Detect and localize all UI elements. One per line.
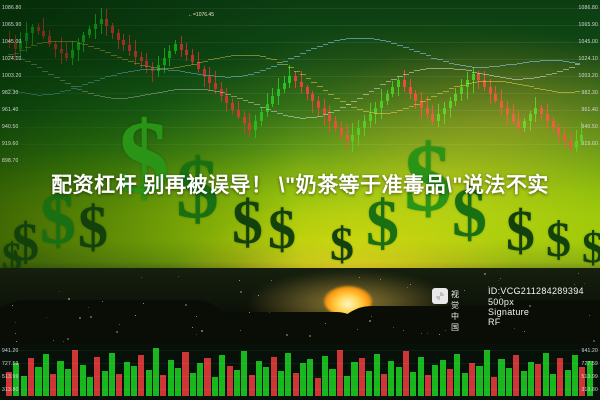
axis-tick-left: 1086.80	[2, 5, 21, 11]
watermark-logo-icon	[432, 288, 448, 304]
axis-tick-left: 1045.00	[2, 39, 21, 45]
watermark-brand: 视觉中国	[451, 289, 460, 333]
axis-tick-right: 961.40	[582, 107, 599, 113]
volume-tick-left: 513.99	[2, 374, 19, 380]
axis-tick-left: 982.30	[2, 90, 19, 96]
image-canvas: $$$$$$$$$$$$$$$ 1086.801065.901045.00102…	[0, 0, 600, 400]
volume-tick-right: 313.80	[582, 387, 599, 393]
axis-tick-right: 1024.10	[579, 56, 598, 62]
axis-tick-right: 1065.90	[579, 22, 598, 28]
axis-tick-left: 940.50	[2, 124, 19, 130]
axis-tick-left: 1003.20	[2, 73, 21, 79]
volume-tick-right: 727.59	[582, 361, 599, 367]
axis-tick-left: 961.40	[2, 107, 19, 113]
volume-tick-right: 941.20	[582, 348, 599, 354]
watermark-id: ID:VCG211284289394	[488, 286, 584, 296]
watermark-license: 500px Signature RF	[488, 297, 529, 327]
axis-tick-left: 1065.90	[2, 22, 21, 28]
volume-tick-right: 513.99	[582, 374, 599, 380]
chart-annotation: ←=1076.45	[188, 12, 214, 18]
axis-tick-left: 1024.10	[2, 56, 21, 62]
volume-tick-left: 313.80	[2, 387, 19, 393]
headline-text: 配资杠杆 别再被误导！ \"奶茶等于准毒品\"说法不实	[0, 168, 600, 204]
axis-tick-right: 940.50	[582, 124, 599, 130]
volume-tick-left: 941.20	[2, 348, 19, 354]
axis-tick-right: 1045.00	[579, 39, 598, 45]
axis-tick-left: 919.60	[2, 141, 19, 147]
axis-tick-right: 1003.20	[579, 73, 598, 79]
volume-tick-left: 727.59	[2, 361, 19, 367]
axis-tick-right: 1086.80	[579, 5, 598, 11]
axis-tick-right: 919.60	[582, 141, 599, 147]
axis-tick-right: 982.30	[582, 90, 599, 96]
axis-tick-left: 898.70	[2, 158, 19, 164]
